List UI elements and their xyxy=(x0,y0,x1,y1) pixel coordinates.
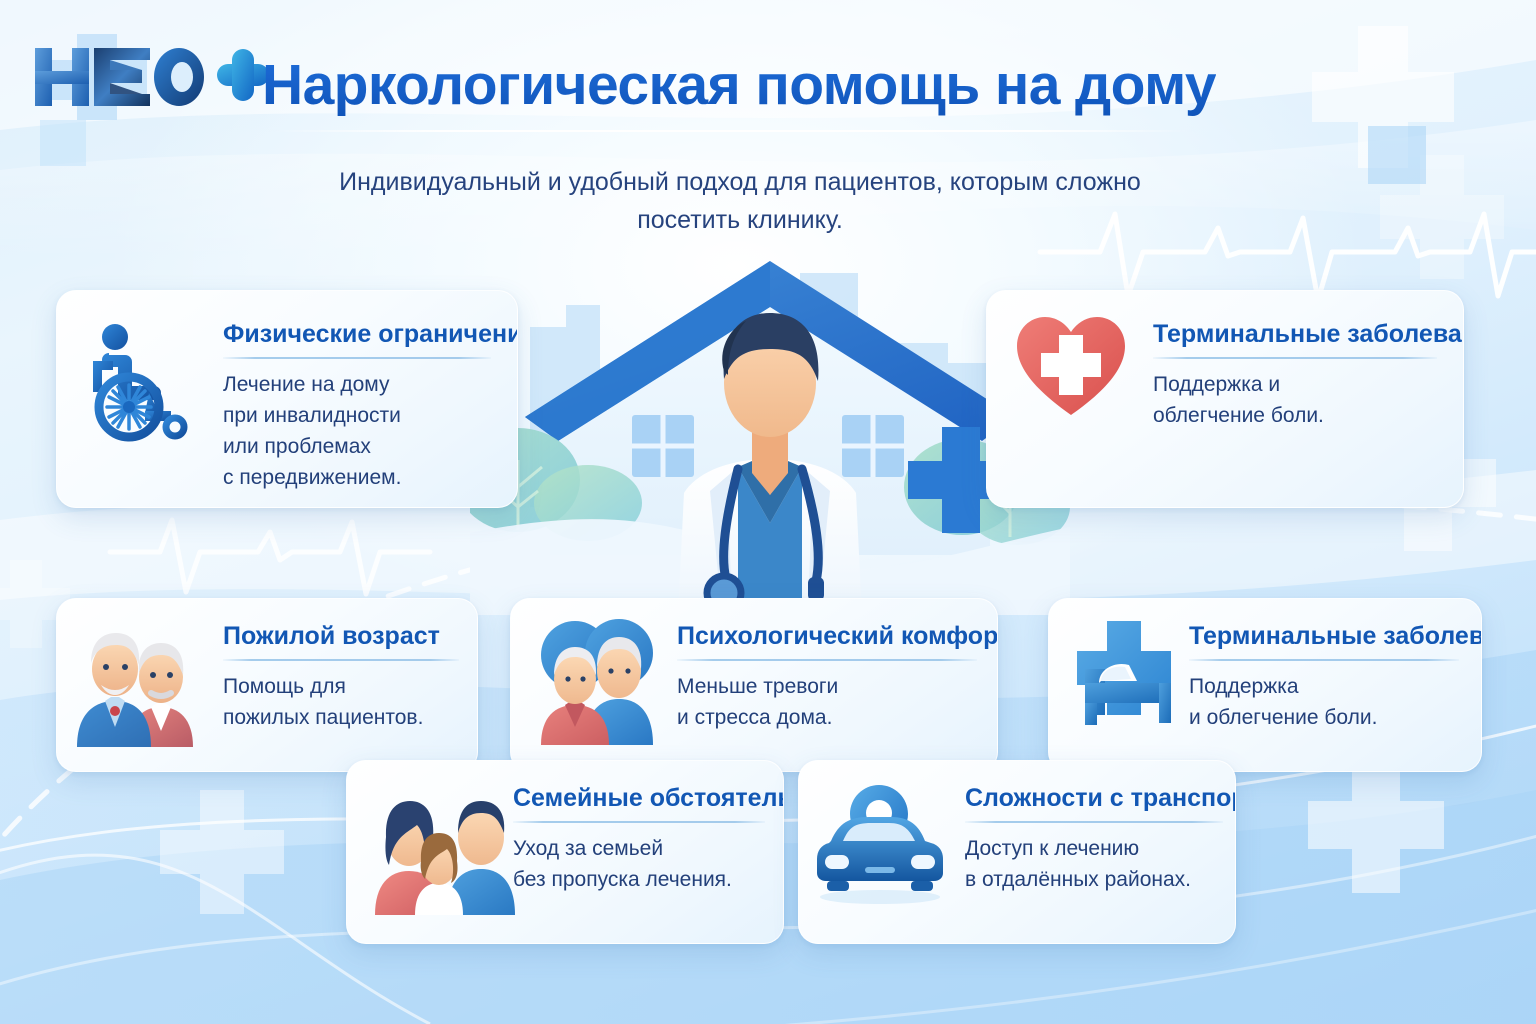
page-title: Наркологическая помощь на дому xyxy=(262,52,1216,118)
elderly-couple-icon xyxy=(71,615,201,747)
card-body: Поддержка и облегчение боли. xyxy=(1189,671,1469,733)
neo-plus-logo[interactable] xyxy=(22,34,270,120)
card-body: Поддержка и облегчение боли. xyxy=(1153,369,1443,431)
card-psychological-comfort[interactable]: Психологический комфорт Меньше тревоги и… xyxy=(510,598,998,772)
card-divider xyxy=(1153,357,1437,359)
card-title: Психологический комфорт xyxy=(677,621,998,651)
infographic-canvas: Наркологическая помощь на дому Индивидуа… xyxy=(0,0,1536,1024)
doctor-at-home-illustration xyxy=(470,255,1070,615)
card-title: Сложности с транспортом xyxy=(965,783,1236,813)
card-divider xyxy=(965,821,1223,823)
heart-cross-icon xyxy=(1011,309,1131,424)
card-body: Лечение на дому при инвалидности или про… xyxy=(223,369,503,493)
card-divider xyxy=(513,821,765,823)
card-elderly-age[interactable]: Пожилой возраст Помощь для пожилых пацие… xyxy=(56,598,478,772)
card-body: Доступ к лечению в отдалённых районах. xyxy=(965,833,1227,895)
card-title: Терминальные заболевания xyxy=(1153,319,1464,349)
card-divider xyxy=(677,659,977,661)
card-body: Помощь для пожилых пациентов. xyxy=(223,671,473,733)
card-terminal-illness-heart[interactable]: Терминальные заболевания Поддержка и обл… xyxy=(986,290,1464,508)
wheelchair-icon xyxy=(87,315,207,445)
title-divider xyxy=(268,130,1196,132)
card-title: Семейные обстоятельства xyxy=(513,783,784,813)
card-title: Физические ограничения xyxy=(223,319,518,349)
card-physical-limitations[interactable]: Физические ограничения Лечение на дому п… xyxy=(56,290,518,508)
family-icon xyxy=(363,775,523,915)
card-title: Пожилой возраст xyxy=(223,621,440,651)
card-terminal-illness-bed[interactable]: Терминальные заболевания Поддержка и обл… xyxy=(1048,598,1482,772)
card-divider xyxy=(223,357,491,359)
page-subtitle: Индивидуальный и удобный подход для паци… xyxy=(300,163,1180,239)
card-body: Уход за семьей без пропуска лечения. xyxy=(513,833,773,895)
card-body: Меньше тревоги и стресса дома. xyxy=(677,671,977,733)
card-family-circumstances[interactable]: Семейные обстоятельства Уход за семьей б… xyxy=(346,760,784,944)
hospital-bed-cross-icon xyxy=(1071,617,1189,735)
card-divider xyxy=(223,659,459,661)
card-divider xyxy=(1189,659,1459,661)
card-transport-difficulties[interactable]: Сложности с транспортом Доступ к лечению… xyxy=(798,760,1236,944)
card-title: Терминальные заболевания xyxy=(1189,621,1482,651)
car-pin-icon xyxy=(813,779,953,909)
two-people-icon xyxy=(533,613,661,745)
